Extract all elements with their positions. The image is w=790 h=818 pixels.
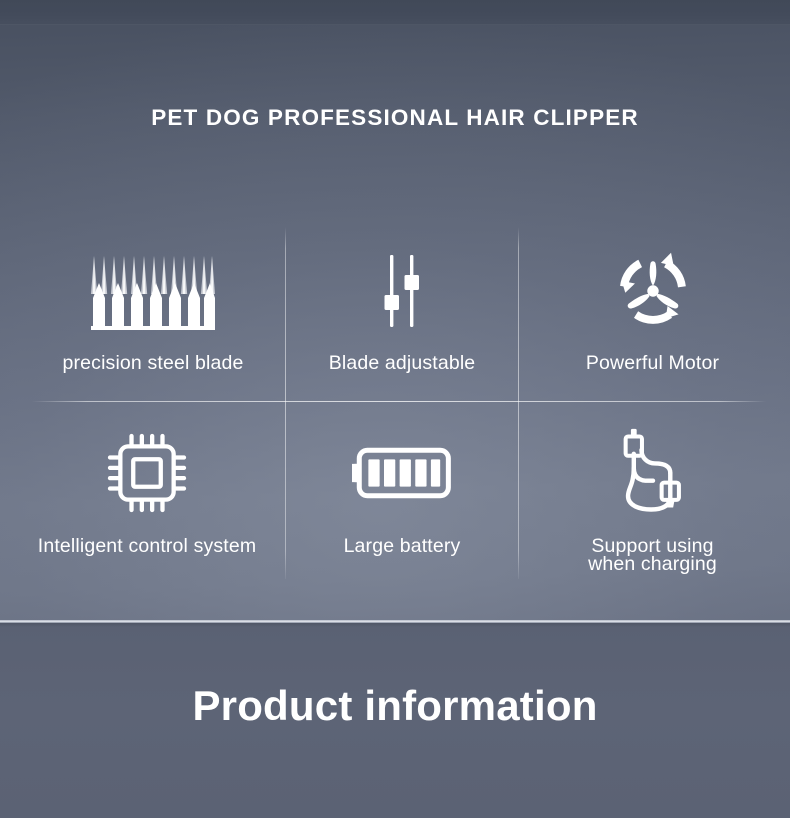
- feature-label: Support using when charging: [588, 537, 717, 573]
- feature-cell-support-using-when-charging: Support using when charging: [520, 423, 785, 573]
- feature-cell-intelligent-control-system: Intelligent control system: [10, 423, 284, 556]
- grid-vertical-divider-2: [518, 227, 519, 579]
- feature-cell-blade-adjustable: Blade adjustable: [287, 243, 517, 373]
- feature-label: Intelligent control system: [38, 537, 257, 556]
- feature-label: Large battery: [344, 537, 461, 556]
- top-edge-band: [0, 0, 790, 25]
- grid-vertical-divider-1: [285, 227, 286, 579]
- sliders-icon: [374, 243, 430, 338]
- comb-blade-icon: [91, 243, 215, 338]
- product-information-title: Product information: [0, 682, 790, 730]
- feature-cell-large-battery: Large battery: [287, 423, 517, 556]
- feature-cell-precision-steel-blade: precision steel blade: [22, 243, 284, 373]
- product-detail-banner: PET DOG PROFESSIONAL HAIR CLIPPER: [0, 0, 790, 818]
- feature-label: precision steel blade: [63, 354, 244, 373]
- section-separator-shadow: [0, 623, 790, 627]
- grid-horizontal-divider: [0, 401, 790, 402]
- battery-icon: [352, 423, 452, 523]
- feature-grid: precision steel blade Blade adjustable: [0, 227, 790, 592]
- usb-cable-icon: [614, 423, 692, 523]
- page-title: PET DOG PROFESSIONAL HAIR CLIPPER: [0, 105, 790, 131]
- top-hairline-divider: [0, 24, 790, 25]
- feature-label: Powerful Motor: [586, 354, 719, 373]
- cpu-chip-icon: [104, 423, 190, 523]
- feature-label: Blade adjustable: [329, 354, 476, 373]
- feature-cell-powerful-motor: Powerful Motor: [520, 243, 785, 373]
- motor-fan-icon: [609, 243, 697, 338]
